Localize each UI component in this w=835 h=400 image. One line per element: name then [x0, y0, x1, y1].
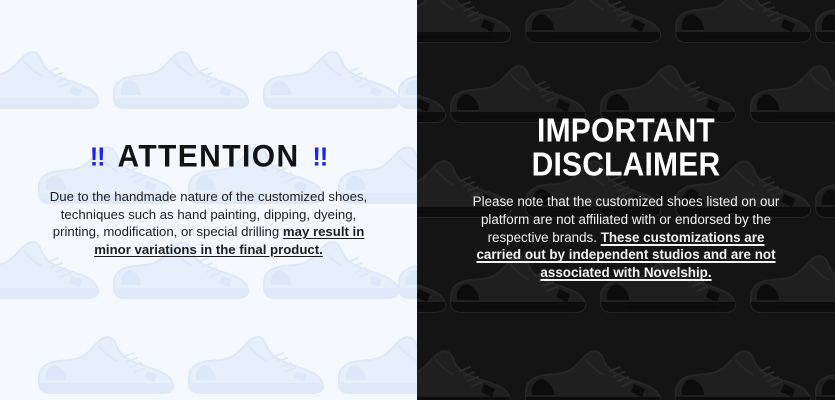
disclaimer-content: IMPORTANT DISCLAIMER Please note that th…: [417, 0, 835, 400]
promo-banner: !! ATTENTION !! Due to the handmade natu…: [0, 0, 835, 400]
attention-panel: !! ATTENTION !! Due to the handmade natu…: [0, 0, 417, 400]
disclaimer-panel: IMPORTANT DISCLAIMER Please note that th…: [417, 0, 835, 400]
attention-heading: !! ATTENTION !!: [90, 142, 327, 172]
attention-content: !! ATTENTION !! Due to the handmade natu…: [0, 0, 417, 400]
disclaimer-heading-line1: IMPORTANT: [537, 113, 715, 149]
double-exclamation-right-icon: !!: [313, 144, 328, 170]
disclaimer-heading: IMPORTANT DISCLAIMER: [532, 115, 721, 182]
double-exclamation-left-icon: !!: [90, 144, 105, 170]
disclaimer-heading-line2: DISCLAIMER: [532, 149, 721, 183]
disclaimer-body: Please note that the customized shoes li…: [465, 193, 787, 282]
attention-body: Due to the handmade nature of the custom…: [44, 188, 374, 258]
attention-title: ATTENTION: [117, 141, 299, 173]
